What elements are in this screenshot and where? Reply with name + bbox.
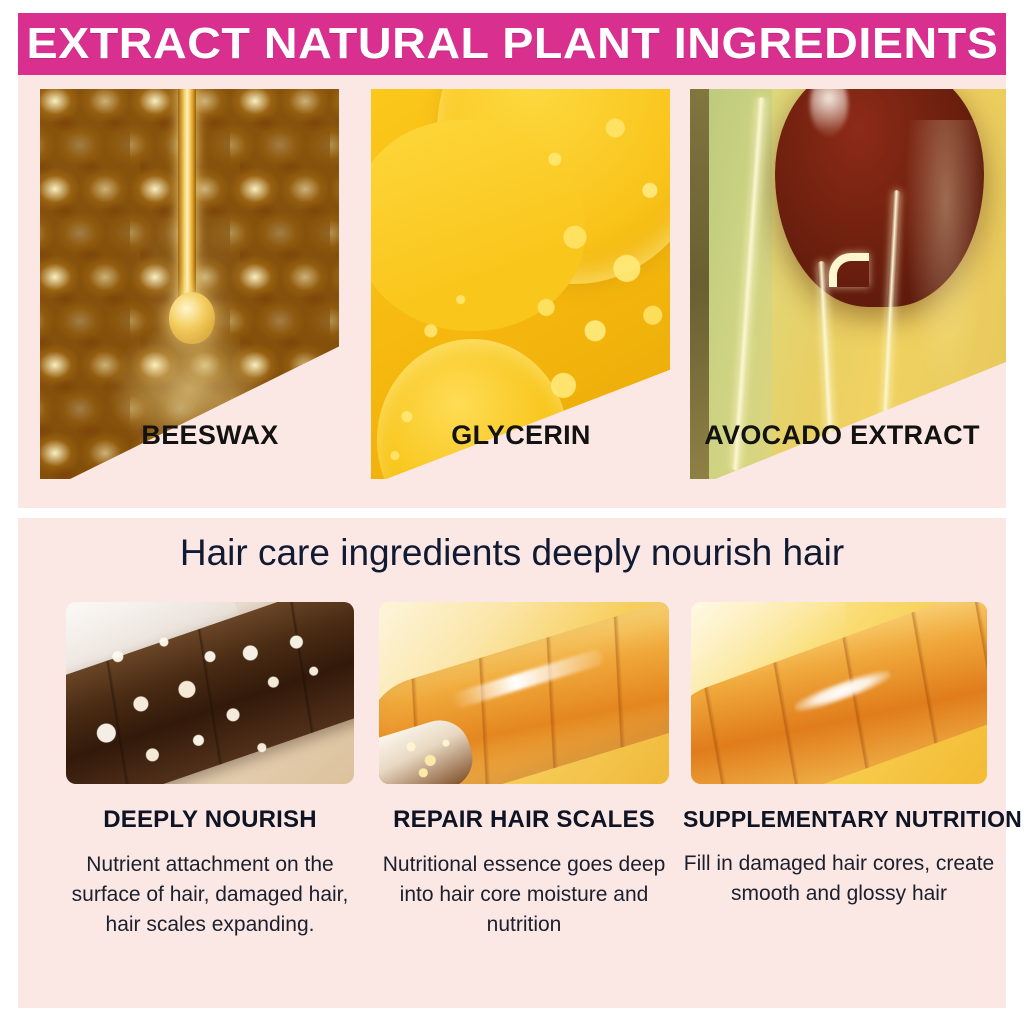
banner: EXTRACT NATURAL PLANT INGREDIENTS (18, 13, 1006, 75)
benefit-card-deeply-nourish: DEEPLY NOURISH Nutrient attachment on th… (54, 602, 366, 939)
benefit-card-supplementary-nutrition: SUPPLEMENTARY NUTRITION Fill in damaged … (683, 602, 995, 909)
ingredient-label-row: BEESWAX GLYCERIN AVOCADO EXTRACT (18, 411, 1006, 459)
nutrient-particles (66, 602, 354, 784)
banner-title: EXTRACT NATURAL PLANT INGREDIENTS (26, 19, 998, 69)
benefit-body-deeply-nourish: Nutrient attachment on the surface of ha… (54, 850, 366, 939)
nutrient-particles (385, 722, 472, 784)
benefits-row: DEEPLY NOURISH Nutrient attachment on th… (18, 602, 1006, 1002)
benefit-body-supplementary-nutrition: Fill in damaged hair cores, create smoot… (683, 849, 995, 909)
ingredient-label-avocado-extract: AVOCADO EXTRACT (678, 420, 1006, 451)
avocado-gloss (905, 120, 987, 393)
ingredients-infographic: EXTRACT NATURAL PLANT INGREDIENTS (0, 0, 1024, 1024)
benefit-title-deeply-nourish: DEEPLY NOURISH (54, 806, 366, 834)
benefit-image-repair-hair-scales (379, 602, 669, 784)
benefit-body-repair-hair-scales: Nutritional essence goes deep into hair … (368, 850, 680, 939)
ingredient-label-glycerin: GLYCERIN (386, 420, 656, 451)
benefit-image-deeply-nourish (66, 602, 354, 784)
benefit-image-supplementary-nutrition (691, 602, 987, 784)
oil-hook-highlight (829, 253, 869, 287)
ingredient-label-beeswax: BEESWAX (80, 420, 340, 451)
benefit-card-repair-hair-scales: REPAIR HAIR SCALES Nutritional essence g… (368, 602, 680, 939)
benefit-title-repair-hair-scales: REPAIR HAIR SCALES (368, 806, 680, 834)
benefits-heading: Hair care ingredients deeply nourish hai… (18, 532, 1006, 574)
benefits-section: Hair care ingredients deeply nourish hai… (18, 518, 1006, 1008)
ingredients-section: EXTRACT NATURAL PLANT INGREDIENTS (18, 13, 1006, 508)
benefit-title-supplementary-nutrition: SUPPLEMENTARY NUTRITION (683, 806, 995, 833)
honey-stream (178, 89, 196, 307)
